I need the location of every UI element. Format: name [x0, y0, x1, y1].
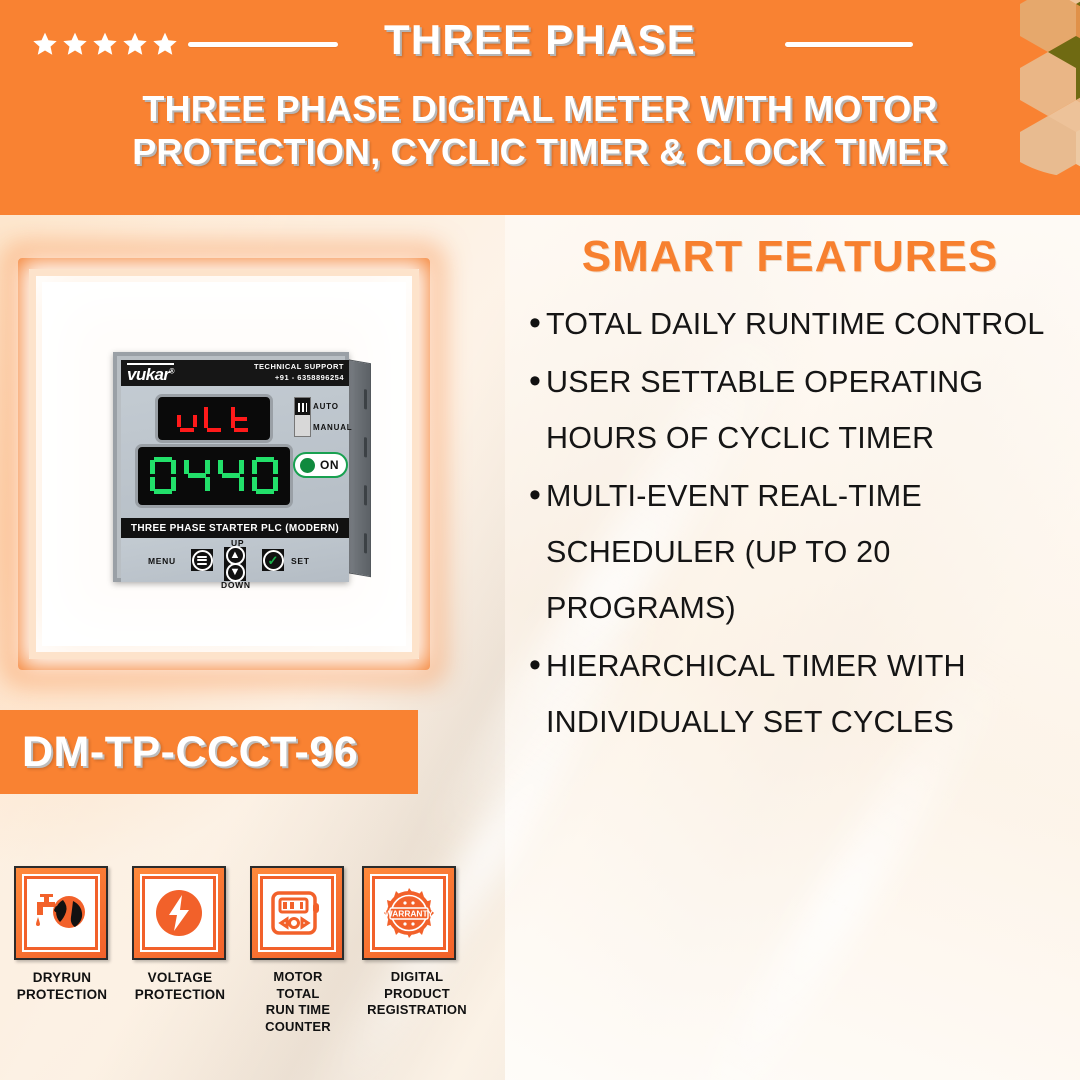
brand-logo: vukar® — [127, 363, 174, 385]
header-banner: THREE PHASE THREE PHASE DIGITAL METER WI… — [0, 0, 1080, 215]
brand-name: vukar — [127, 365, 169, 384]
model-number-banner: DM-TP-CCCT-96 — [0, 710, 418, 794]
secondary-display — [135, 444, 293, 508]
secondary-display-value — [149, 455, 279, 497]
menu-button[interactable] — [191, 549, 213, 571]
seg-char-L — [203, 404, 225, 434]
seg-char-u — [176, 404, 198, 434]
feature-item-text: MULTI-EVENT REAL-TIME SCHEDULER (UP TO 2… — [546, 468, 1070, 636]
check-icon: ✓ — [263, 550, 284, 571]
set-button[interactable]: ✓ — [262, 549, 284, 571]
header-subtitle-line1: THREE PHASE DIGITAL METER WITH MOTOR — [40, 88, 1040, 131]
smart-features-title: SMART FEATURES — [520, 232, 1060, 282]
switch-label-auto: AUTO — [313, 402, 339, 411]
badge-label-line: DIGITAL — [362, 969, 472, 986]
badge-label: VOLTAGE PROTECTION — [132, 969, 228, 1003]
warranty-seal-icon: WARRANTY — [382, 886, 436, 940]
device-nameplate-text: THREE PHASE STARTER PLC (MODERN) — [131, 523, 339, 534]
up-button[interactable]: ▲ — [224, 547, 246, 564]
support-phone: +91 - 6358896254 — [254, 373, 344, 384]
badge-dryrun-protection: DRYRUN PROTECTION — [14, 866, 110, 1035]
badge-runtime-counter: MOTOR TOTAL RUN TIME COUNTER — [250, 866, 346, 1035]
badge-label-line: REGISTRATION — [362, 1002, 472, 1019]
badge-voltage-protection: VOLTAGE PROTECTION — [132, 866, 228, 1035]
bullet-icon: • — [524, 468, 546, 522]
header-kicker: THREE PHASE — [0, 16, 1080, 64]
badge-inner — [22, 874, 100, 952]
product-device: vukar® TECHNICAL SUPPORT +91 - 635889625… — [113, 352, 357, 582]
badge-frame: WARRANTY — [362, 866, 456, 960]
badge-label-line: PROTECTION — [14, 986, 110, 1003]
feature-item: • TOTAL DAILY RUNTIME CONTROL — [524, 296, 1070, 352]
bullet-icon: • — [524, 638, 546, 692]
badge-label-line: PROTECTION — [132, 986, 228, 1003]
support-label: TECHNICAL SUPPORT — [254, 362, 344, 373]
badge-frame — [14, 866, 108, 960]
device-front-body: vukar® TECHNICAL SUPPORT +91 - 635889625… — [113, 352, 349, 582]
primary-display-value — [176, 404, 252, 434]
menu-button-label: MENU — [148, 556, 176, 566]
feature-item: • HIERARCHICAL TIMER WITH INDIVIDUALLY S… — [524, 638, 1070, 750]
feature-item-text: USER SETTABLE OPERATING HOURS OF CYCLIC … — [546, 354, 1070, 466]
feature-item: • MULTI-EVENT REAL-TIME SCHEDULER (UP TO… — [524, 468, 1070, 636]
product-poster: THREE PHASE THREE PHASE DIGITAL METER WI… — [0, 0, 1080, 1080]
technical-support-info: TECHNICAL SUPPORT +91 - 6358896254 — [254, 362, 344, 384]
lightning-bolt-icon — [153, 887, 205, 939]
feature-badges: DRYRUN PROTECTION VOLTAGE PROTECTION — [14, 866, 500, 1035]
seg-digit-4 — [183, 455, 211, 497]
badge-inner — [140, 874, 218, 952]
down-button[interactable]: ▼ — [224, 564, 246, 581]
seg-digit-4 — [217, 455, 245, 497]
faucet-globe-icon — [33, 890, 89, 936]
feature-item-text: TOTAL DAILY RUNTIME CONTROL — [546, 296, 1070, 352]
status-indicator-on: ON — [293, 452, 348, 478]
primary-display — [155, 394, 273, 443]
seg-digit-0 — [251, 455, 279, 497]
badge-frame — [132, 866, 226, 960]
device-header-strip: vukar® TECHNICAL SUPPORT +91 - 635889625… — [121, 360, 349, 386]
menu-icon — [192, 550, 213, 571]
badge-inner — [258, 874, 336, 952]
bullet-icon: • — [524, 354, 546, 408]
device-nameplate: THREE PHASE STARTER PLC (MODERN) — [121, 518, 349, 538]
header-subtitle-line2: PROTECTION, CYCLIC TIMER & CLOCK TIMER — [40, 131, 1040, 174]
badge-label-line: MOTOR — [250, 969, 346, 986]
badge-label: DIGITAL PRODUCT REGISTRATION — [362, 969, 472, 1019]
seg-digit-0 — [149, 455, 177, 497]
switch-grip — [298, 403, 307, 412]
status-indicator-label: ON — [320, 458, 339, 472]
device-display-face: AUTO MANUAL ON — [121, 386, 349, 518]
feature-item-text: HIERARCHICAL TIMER WITH INDIVIDUALLY SET… — [546, 638, 1070, 750]
device-control-panel: MENU UP ▲ ▼ DOWN ✓ SET — [121, 538, 349, 582]
down-button-label: DOWN — [221, 580, 251, 590]
model-number-text: DM-TP-CCCT-96 — [22, 728, 358, 777]
seal-text: WARRANTY — [385, 909, 434, 919]
badge-digital-registration: WARRANTY DIGITAL PRODUCT REGISTRATION — [362, 866, 472, 1035]
badge-label: DRYRUN PROTECTION — [14, 969, 110, 1003]
status-led-icon — [300, 458, 315, 473]
badge-inner: WARRANTY — [370, 874, 448, 952]
switch-label-manual: MANUAL — [313, 423, 352, 432]
bullet-icon: • — [524, 296, 546, 350]
badge-label-line: RUN TIME — [250, 1002, 346, 1019]
registered-mark-icon: ® — [169, 368, 174, 375]
badge-frame — [250, 866, 344, 960]
badge-label: MOTOR TOTAL RUN TIME COUNTER — [250, 969, 346, 1035]
feature-item: • USER SETTABLE OPERATING HOURS OF CYCLI… — [524, 354, 1070, 466]
smart-features-list: • TOTAL DAILY RUNTIME CONTROL • USER SET… — [524, 296, 1070, 752]
auto-manual-switch[interactable] — [294, 397, 311, 437]
set-button-label: SET — [291, 556, 310, 566]
seg-char-t — [230, 404, 252, 434]
badge-label-line: TOTAL — [250, 986, 346, 1003]
badge-label-line: PRODUCT — [362, 986, 472, 1003]
badge-label-line: DRYRUN — [14, 969, 110, 986]
header-subtitle: THREE PHASE DIGITAL METER WITH MOTOR PRO… — [40, 88, 1040, 174]
badge-label-line: COUNTER — [250, 1019, 346, 1036]
badge-label-line: VOLTAGE — [132, 969, 228, 986]
digital-counter-icon — [269, 889, 325, 937]
